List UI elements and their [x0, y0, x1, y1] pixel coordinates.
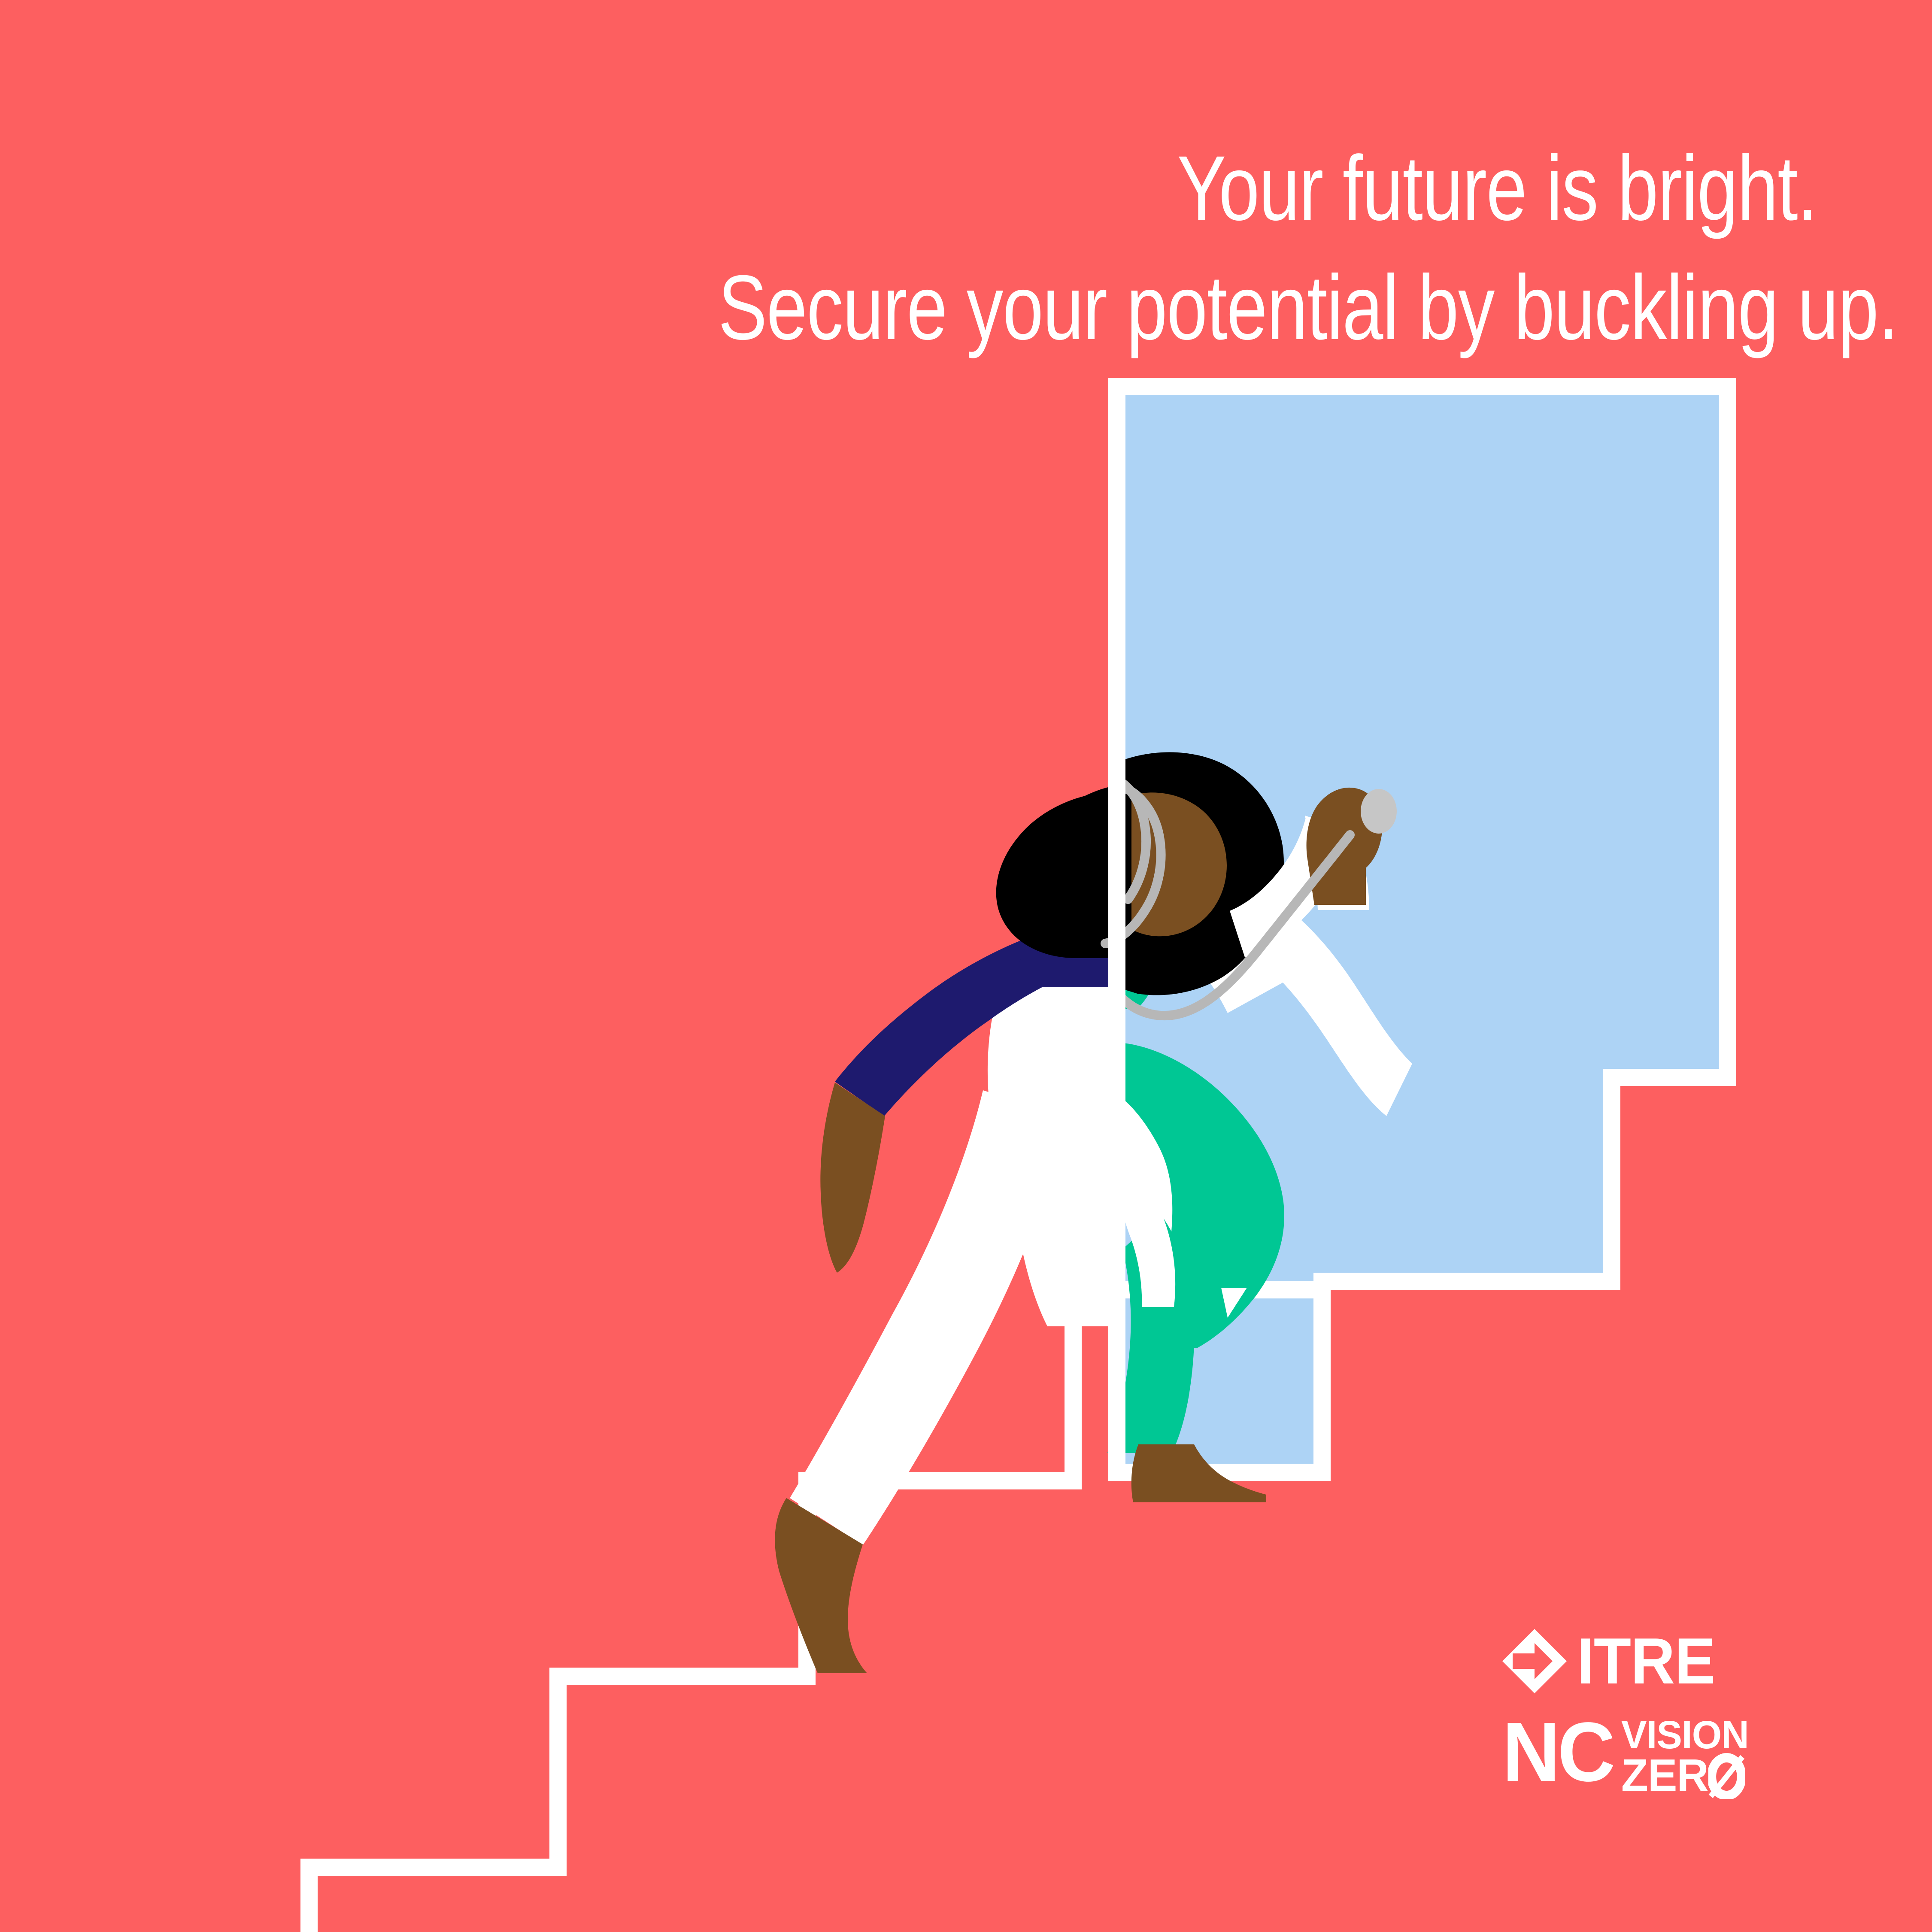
headline-line-2: Secure your potential by buckling up. [718, 248, 1817, 367]
zero-wordmark: ZER [1621, 1752, 1749, 1799]
nc-wordmark: NC [1502, 1714, 1613, 1791]
headline: Your future is bright. Secure your poten… [718, 129, 1817, 367]
stethoscope-chestpiece [1361, 789, 1397, 834]
poster-canvas: Your future is bright. Secure your poten… [0, 0, 1932, 1932]
vision-wordmark: VISION [1621, 1719, 1749, 1752]
zero-letters: ZER [1621, 1756, 1708, 1795]
itre-logo: ITRE [1502, 1627, 1777, 1695]
vision-zero-stack: VISION ZER [1621, 1719, 1753, 1799]
logo-block: ITRE NC VISION ZER [1502, 1627, 1777, 1794]
nc-vision-zero-logo: NC VISION ZER [1502, 1714, 1777, 1795]
figure-split-seam [1108, 378, 1125, 1481]
figure-left-hand [820, 1083, 885, 1273]
slashed-o-icon [1708, 1752, 1745, 1799]
itre-wordmark: ITRE [1577, 1629, 1715, 1694]
headline-line-1: Your future is bright. [718, 129, 1817, 248]
figure-front-thigh [1011, 996, 1116, 1326]
diamond-arrow-icon [1502, 1629, 1567, 1694]
